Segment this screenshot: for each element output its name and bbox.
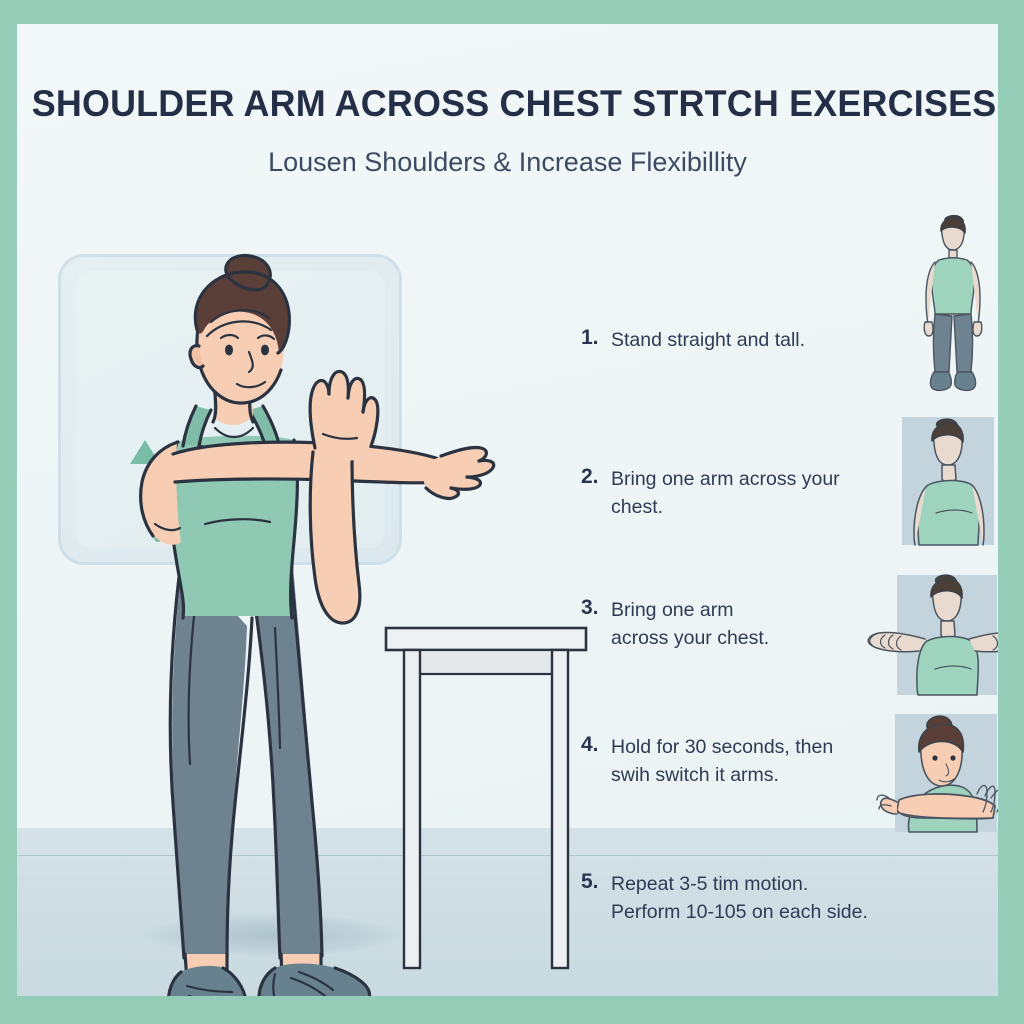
thumb-standing-full-body — [913, 214, 993, 399]
thumb-arms-crossed-shoulders — [897, 575, 997, 695]
page-subtitle: Lousen Shoulders & Increase Flexibillity — [17, 147, 998, 178]
step-text: Bring one arm across your chest. — [611, 465, 840, 521]
step-item-5: 5. Repeat 3-5 tim motion. Perform 10-105… — [581, 870, 868, 926]
step-item-2: 2. Bring one arm across your chest. — [581, 465, 840, 521]
step-number: 3. — [581, 596, 611, 620]
step-number: 2. — [581, 465, 611, 489]
step-number: 1. — [581, 326, 611, 350]
step-text: Repeat 3-5 tim motion. Perform 10-105 on… — [611, 870, 868, 926]
step-number: 5. — [581, 870, 611, 894]
side-table-illustration — [380, 620, 595, 980]
step-text: Hold for 30 seconds, then swih switch it… — [611, 733, 833, 789]
page-title: SHOULDER ARM ACROSS CHEST STRTCH EXERCIS… — [32, 83, 984, 125]
step-number: 4. — [581, 733, 611, 757]
thumb-torso-front — [902, 417, 994, 545]
step-item-1: 1. Stand straight and tall. — [581, 326, 805, 354]
step-item-4: 4. Hold for 30 seconds, then swih switch… — [581, 733, 833, 789]
step-item-3: 3. Bring one arm across your chest. — [581, 596, 769, 652]
poster-inner-panel: .ol{stroke:#2b3340;stroke-width:3.2;stro… — [17, 24, 998, 996]
step-text: Bring one arm across your chest. — [611, 596, 769, 652]
step-text: Stand straight and tall. — [611, 326, 805, 354]
poster-root: .ol{stroke:#2b3340;stroke-width:3.2;stro… — [0, 0, 1024, 1024]
thumb-arm-across-chest — [895, 714, 997, 832]
